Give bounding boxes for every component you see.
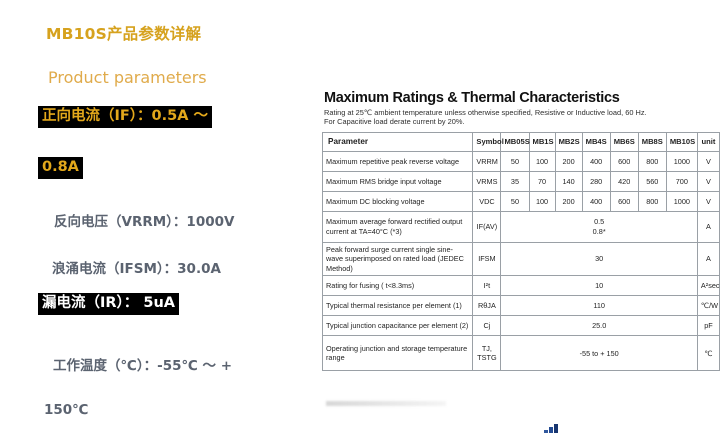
cell-value-mb2s: 140 bbox=[555, 171, 582, 191]
forward-current-value-2: 0.8* bbox=[504, 227, 693, 236]
cell-value-mb6s: 600 bbox=[610, 151, 638, 171]
col-header-mb10s: MB10S bbox=[666, 132, 697, 151]
cell-value-mb2s: 200 bbox=[555, 151, 582, 171]
page-title: MB10S产品参数详解 bbox=[46, 22, 201, 44]
cell-value-span: 25.0 bbox=[501, 316, 697, 336]
cell-value-span: -55 to + 150 bbox=[501, 336, 697, 371]
cell-symbol: TJ, TSTG bbox=[473, 336, 501, 371]
col-header-mb4s: MB4S bbox=[582, 132, 610, 151]
cell-value-mb4s: 280 bbox=[582, 171, 610, 191]
cell-value-mb6s: 600 bbox=[610, 191, 638, 211]
spec-forward-current-line1: 正向电流（IF）：0.5A ～ bbox=[38, 106, 212, 128]
col-header-mb2s: MB2S bbox=[555, 132, 582, 151]
table-row: Typical thermal resistance per element (… bbox=[323, 296, 720, 316]
col-header-unit: unit bbox=[697, 132, 719, 151]
cell-value-mb05s: 50 bbox=[501, 151, 529, 171]
col-header-mb6s: MB6S bbox=[610, 132, 638, 151]
cell-symbol: Cj bbox=[473, 316, 501, 336]
table-row: Maximum DC blocking voltage VDC 50 100 2… bbox=[323, 191, 720, 211]
cell-value-mb10s: 700 bbox=[666, 171, 697, 191]
col-header-mb05s: MB05S bbox=[501, 132, 529, 151]
cell-value-mb1s: 70 bbox=[529, 171, 555, 191]
datasheet-note-line-2: For Capacitive load derate current by 20… bbox=[324, 117, 720, 126]
datasheet-section: Maximum Ratings & Thermal Characteristic… bbox=[322, 90, 720, 371]
cell-value-mb1s: 100 bbox=[529, 191, 555, 211]
cell-unit: V bbox=[697, 171, 719, 191]
cell-parameter: Maximum DC blocking voltage bbox=[323, 191, 473, 211]
spec-surge-current: 浪涌电流（IFSM）：30.0A bbox=[52, 257, 221, 277]
cell-value-span: 30 bbox=[501, 242, 697, 275]
signal-bars-icon bbox=[544, 423, 562, 433]
col-header-symbol: Symbol bbox=[473, 132, 501, 151]
cell-parameter: Typical junction capacitance per element… bbox=[323, 316, 473, 336]
table-row: Rating for fusing ( t<8.3ms) I²t 10 A²se… bbox=[323, 276, 720, 296]
product-spec-panel: MB10S产品参数详解 Product parameters 正向电流（IF）：… bbox=[0, 0, 318, 431]
table-row: Operating junction and storage temperatu… bbox=[323, 336, 720, 371]
spec-reverse-voltage: 反向电压（VRRM）：1000V bbox=[54, 210, 234, 230]
table-header-row: Parameter Symbol MB05S MB1S MB2S MB4S MB… bbox=[323, 132, 720, 151]
spec-operating-temperature-line1: 工作温度（℃）：-55℃ ～ + bbox=[53, 354, 232, 374]
table-row: Peak forward surge current single sine-w… bbox=[323, 242, 720, 275]
cell-symbol: VDC bbox=[473, 191, 501, 211]
cell-parameter: Peak forward surge current single sine-w… bbox=[323, 242, 473, 275]
cell-unit: A bbox=[697, 242, 719, 275]
cell-value-mb8s: 560 bbox=[638, 171, 666, 191]
cell-unit: V bbox=[697, 191, 719, 211]
cell-symbol: VRRM bbox=[473, 151, 501, 171]
spec-leakage-current: 漏电流（IR）： 5uA bbox=[38, 293, 179, 315]
cell-unit: V bbox=[697, 151, 719, 171]
cell-value-mb05s: 35 bbox=[501, 171, 529, 191]
cell-parameter: Operating junction and storage temperatu… bbox=[323, 336, 473, 371]
ratings-table: Parameter Symbol MB05S MB1S MB2S MB4S MB… bbox=[322, 132, 720, 371]
cell-symbol: RθJA bbox=[473, 296, 501, 316]
cell-symbol: VRMS bbox=[473, 171, 501, 191]
datasheet-note-line-1: Rating at 25℃ ambient temperature unless… bbox=[324, 108, 720, 117]
cell-parameter: Typical thermal resistance per element (… bbox=[323, 296, 473, 316]
table-row: Typical junction capacitance per element… bbox=[323, 316, 720, 336]
spec-forward-current-line2: 0.8A bbox=[38, 157, 83, 179]
table-row: Maximum repetitive peak reverse voltage … bbox=[323, 151, 720, 171]
cell-value-mb6s: 420 bbox=[610, 171, 638, 191]
cell-value-span: 10 bbox=[501, 276, 697, 296]
forward-current-value-1: 0.5 bbox=[504, 217, 693, 226]
cell-unit: ℃/W bbox=[697, 296, 719, 316]
page-subtitle: Product parameters bbox=[48, 68, 207, 87]
cell-value-mb10s: 1000 bbox=[666, 191, 697, 211]
cell-parameter: Maximum repetitive peak reverse voltage bbox=[323, 151, 473, 171]
cell-value-mb8s: 800 bbox=[638, 151, 666, 171]
cell-unit: A²sec bbox=[697, 276, 719, 296]
cell-value-mb4s: 400 bbox=[582, 191, 610, 211]
cell-symbol: IF(AV) bbox=[473, 211, 501, 242]
cell-value-mb10s: 1000 bbox=[666, 151, 697, 171]
datasheet-heading: Maximum Ratings & Thermal Characteristic… bbox=[324, 90, 720, 106]
cell-parameter: Maximum RMS bridge input voltage bbox=[323, 171, 473, 191]
cell-value-mb05s: 50 bbox=[501, 191, 529, 211]
table-row: Maximum RMS bridge input voltage VRMS 35… bbox=[323, 171, 720, 191]
table-row: Maximum average forward rectified output… bbox=[323, 211, 720, 242]
spec-operating-temperature-line2: 150℃ bbox=[44, 402, 89, 418]
col-header-parameter: Parameter bbox=[323, 132, 473, 151]
cell-unit: A bbox=[697, 211, 719, 242]
cell-parameter: Maximum average forward rectified output… bbox=[323, 211, 473, 242]
cell-value-span: 110 bbox=[501, 296, 697, 316]
scan-artifact bbox=[326, 401, 446, 406]
cell-unit: pF bbox=[697, 316, 719, 336]
col-header-mb1s: MB1S bbox=[529, 132, 555, 151]
cell-value-mb8s: 800 bbox=[638, 191, 666, 211]
cell-parameter: Rating for fusing ( t<8.3ms) bbox=[323, 276, 473, 296]
cell-value-mb1s: 100 bbox=[529, 151, 555, 171]
cell-value-mb4s: 400 bbox=[582, 151, 610, 171]
cell-value-span: 0.5 0.8* bbox=[501, 211, 697, 242]
cell-value-mb2s: 200 bbox=[555, 191, 582, 211]
cell-unit: ℃ bbox=[697, 336, 719, 371]
cell-symbol: IFSM bbox=[473, 242, 501, 275]
cell-symbol: I²t bbox=[473, 276, 501, 296]
col-header-mb8s: MB8S bbox=[638, 132, 666, 151]
